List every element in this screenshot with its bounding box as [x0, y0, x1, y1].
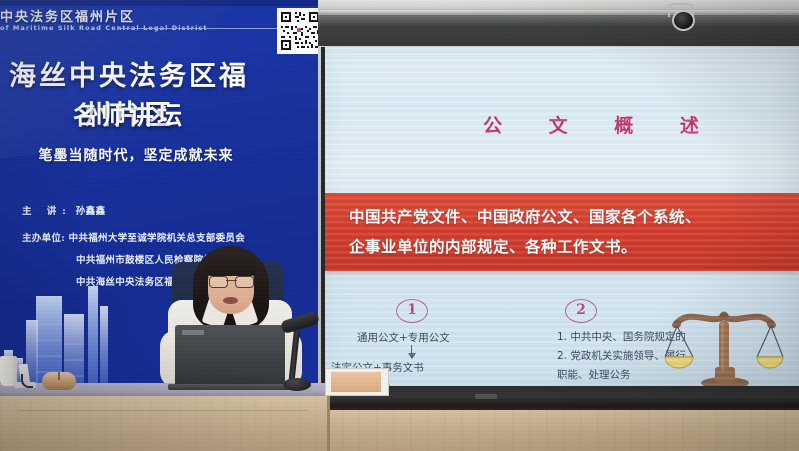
- speaker-name: 孙鑫鑫: [76, 206, 106, 217]
- speaker-hair-fringe: [205, 252, 257, 276]
- slide-title: 公 文 概 述: [325, 111, 799, 138]
- wood-grain: [325, 410, 799, 451]
- slide-marker-1: 1: [396, 299, 428, 323]
- glasses-lens-right: [235, 276, 254, 288]
- screenshot-frame: 中央法务区福州片区 of Maritime Silk Road Central …: [0, 0, 799, 451]
- red-banner-line-2: 企事业单位的内部规定、各种工作文书。: [349, 235, 637, 257]
- organizer-name-1: 中共福州大学至诚学院机关总支部委员会: [69, 233, 245, 244]
- column1-row-1: 通用公文+专用公文: [357, 330, 450, 345]
- qr-code-icon[interactable]: [277, 8, 318, 54]
- banner-header-cn: 中央法务区福州片区: [0, 6, 300, 25]
- organizer-label: 主办单位:: [22, 233, 65, 244]
- wall-panel-wood: [325, 410, 799, 451]
- banner-organizer-line-1: 主办单位: 中共福州大学至诚学院机关总支部委员会: [22, 230, 284, 244]
- laptop-base: [168, 384, 294, 390]
- banner-speaker-line: 主 讲: 孙鑫鑫: [22, 203, 272, 217]
- banner-subtitle: 笔墨当随时代，坚定成就未来: [0, 145, 272, 165]
- slide-marker-2: 2: [565, 299, 597, 323]
- desk-grain: [0, 396, 330, 451]
- speaker-mouth: [223, 297, 238, 304]
- speaker-label: 主 讲:: [22, 206, 72, 217]
- down-arrow-icon-1: [411, 345, 412, 358]
- screen-bezel: [325, 386, 799, 412]
- projection-screen: 公 文 概 述 中国共产党文件、中国政府公文、国家各个系统、 企事业单位的内部规…: [325, 47, 799, 388]
- nameplate-insert: [331, 372, 381, 392]
- cable: [21, 374, 33, 388]
- desk-right-edge: [327, 396, 330, 451]
- glasses-icon: [209, 276, 254, 286]
- slide-red-banner: 中国共产党文件、中国政府公文、国家各个系统、 企事业单位的内部规定、各种工作文书…: [325, 193, 799, 271]
- mouse-button-split: [58, 372, 60, 380]
- glasses-lens-left: [209, 276, 228, 288]
- justice-scales-icon: [663, 295, 787, 388]
- banner-title-line-2: 名师讲坛: [0, 96, 258, 132]
- display-logo-icon: [475, 394, 497, 399]
- red-banner-line-1: 中国共产党文件、中国政府公文、国家各个系统、: [349, 205, 701, 227]
- lenovo-logo-icon: lenovo-logo: [182, 330, 204, 335]
- banner-header-rule: [118, 28, 286, 29]
- spotlight-icon: [672, 10, 695, 31]
- microphone-base: [283, 378, 311, 391]
- desk-front-panel: [0, 396, 330, 451]
- desk-seam: [18, 410, 308, 411]
